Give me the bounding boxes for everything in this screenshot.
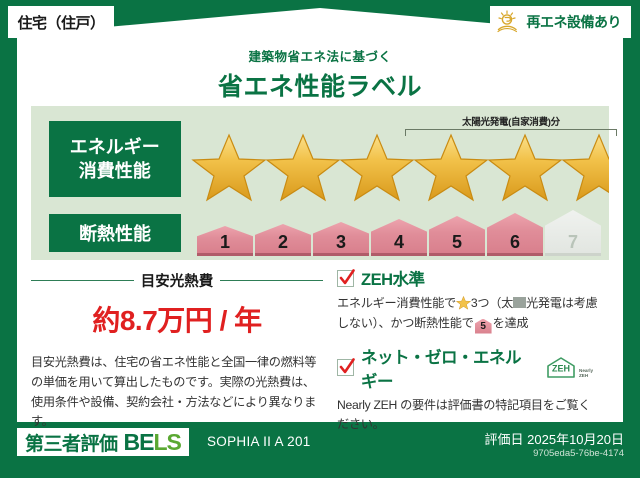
star-icon xyxy=(265,129,341,203)
svg-text:ZEH: ZEH xyxy=(579,373,589,378)
insulation-grade-badge: 2 xyxy=(255,224,311,256)
heading-rule-left xyxy=(31,280,134,282)
insulation-grade-badge: 4 xyxy=(371,219,427,256)
house-type-tag: 住宅（住戸） xyxy=(8,6,114,38)
label-footer: 第三者評価 BELS SOPHIA II A 201 評価日 2025年10月2… xyxy=(0,422,640,478)
redaction-block xyxy=(513,297,526,308)
zeh-standard-title: ZEH水準 xyxy=(361,266,425,290)
house-type-tag-label: 住宅（住戸） xyxy=(17,12,104,33)
zeh-body-text-1: エネルギー消費性能で xyxy=(337,296,456,310)
bels-jp-label: 第三者評価 xyxy=(25,429,118,456)
grade-number: 4 xyxy=(394,232,404,253)
solar-generation-label: 太陽光発電(自家消費)分 xyxy=(405,114,617,128)
insulation-grade-badge: 6 xyxy=(487,213,543,256)
net-zero-energy-heading: ネット・ゼロ・エネルギー ZEH Nearly ZEH xyxy=(337,344,601,392)
insulation-performance-row: 断熱性能 1 2 3 xyxy=(31,208,609,258)
insulation-performance-label: 断熱性能 xyxy=(49,214,181,252)
grade-number: 2 xyxy=(278,232,288,253)
insulation-label-text: 断熱性能 xyxy=(79,220,151,246)
lower-section: 目安光熱費 約8.7万円 / 年 目安光熱費は、住宅の省エネ性能と全国一律の燃料… xyxy=(31,266,609,421)
star-icon-inline xyxy=(456,295,471,310)
heading-rule-right xyxy=(220,280,323,282)
renewable-equipment-badge: 再エネ設備あり xyxy=(490,6,632,38)
zeh-body-text-5: を達成 xyxy=(493,316,529,330)
insulation-grade-badge: 1 xyxy=(197,226,253,256)
zeh-standard-body: エネルギー消費性能で3つ（太光発電は考慮しない）、かつ断熱性能で5を達成 xyxy=(337,294,601,334)
star-icon xyxy=(413,129,489,203)
evaluation-date: 評価日 2025年10月20日 xyxy=(485,429,624,448)
grade-number: 1 xyxy=(220,232,230,253)
net-zero-energy-block: ネット・ゼロ・エネルギー ZEH Nearly ZEH xyxy=(337,344,601,435)
insulation-grade-badge: 5 xyxy=(429,216,485,256)
checkbox-checked xyxy=(337,270,354,287)
sun-renewable-icon xyxy=(496,10,522,34)
check-icon xyxy=(338,357,356,377)
renewable-equipment-label: 再エネ設備あり xyxy=(527,12,622,32)
bels-logo: BELS xyxy=(124,429,181,456)
evaluation-id: 9705eda5-76be-4174 xyxy=(533,448,624,459)
energy-cost-column: 目安光熱費 約8.7万円 / 年 目安光熱費は、住宅の省エネ性能と全国一律の燃料… xyxy=(31,266,331,421)
star-icon xyxy=(191,129,267,203)
zeh-standard-block: ZEH水準 エネルギー消費性能で3つ（太光発電は考慮しない）、かつ断熱性能で5を… xyxy=(337,266,601,334)
zeh-house-icon: ZEH xyxy=(545,356,579,380)
grade-number: 3 xyxy=(336,232,346,253)
svg-text:ZEH: ZEH xyxy=(552,363,570,373)
bels-energy-label: 住宅（住戸） 再エネ設備あり 建築物省 xyxy=(0,0,640,478)
energy-star-rating xyxy=(191,129,609,203)
zeh-standard-heading: ZEH水準 xyxy=(337,266,601,290)
cost-value: 約8.7万円 / 年 xyxy=(31,299,323,339)
zeh-column: ZEH水準 エネルギー消費性能で3つ（太光発電は考慮しない）、かつ断熱性能で5を… xyxy=(331,266,601,421)
energy-label-line1: エネルギー xyxy=(70,135,160,159)
star-icon xyxy=(561,129,609,203)
insulation-grade-badge: 3 xyxy=(313,222,369,256)
grade-number: 5 xyxy=(480,321,485,332)
energy-performance-row: エネルギー 消費性能 太陽光発電(自家消費)分 xyxy=(31,112,609,206)
title-subtitle: 建築物省エネ法に基づく xyxy=(17,46,623,65)
label-title: 建築物省エネ法に基づく 省エネ性能ラベル xyxy=(17,46,623,103)
label-card: 建築物省エネ法に基づく 省エネ性能ラベル エネルギー 消費性能 太陽光発電(自家… xyxy=(17,8,623,470)
zeh-body-text-3: 光発電 xyxy=(526,296,562,310)
zeh-body-text-2: 3つ（太 xyxy=(471,296,513,310)
energy-label-line2: 消費性能 xyxy=(79,159,151,183)
insulation-grade-badge-inline: 5 xyxy=(475,319,492,334)
nearly-zeh-mark: Nearly ZEH xyxy=(579,366,601,380)
checkbox-checked xyxy=(337,359,354,376)
solar-bracket xyxy=(405,129,617,136)
grade-number: 7 xyxy=(568,232,578,253)
insulation-grade-badge-inactive: 7 xyxy=(545,210,601,256)
insulation-grade-scale: 1 2 3 4 5 xyxy=(197,210,603,256)
cost-disclaimer: 目安光熱費は、住宅の省エネ性能と全国一律の燃料等の単価を用いて算出したものです。… xyxy=(31,353,323,432)
building-name: SOPHIA II A 201 xyxy=(207,434,311,449)
ratings-panel: エネルギー 消費性能 太陽光発電(自家消費)分 xyxy=(31,106,609,260)
solar-generation-annotation: 太陽光発電(自家消費)分 xyxy=(405,114,617,136)
check-icon xyxy=(338,268,356,288)
star-icon xyxy=(487,129,563,203)
cost-heading-label: 目安光熱費 xyxy=(141,270,214,291)
bels-certification-mark: 第三者評価 BELS xyxy=(17,428,189,456)
net-zero-energy-title: ネット・ゼロ・エネルギー xyxy=(361,344,536,392)
cost-heading: 目安光熱費 xyxy=(31,270,323,291)
bels-logo-part1: BE xyxy=(124,429,154,455)
star-icon xyxy=(339,129,415,203)
grade-number: 5 xyxy=(452,232,462,253)
grade-number: 6 xyxy=(510,232,520,253)
title-main: 省エネ性能ラベル xyxy=(17,67,623,103)
zeh-logo: ZEH Nearly ZEH xyxy=(545,356,601,380)
energy-performance-label: エネルギー 消費性能 xyxy=(49,121,181,197)
bels-logo-part2: LS xyxy=(153,429,180,455)
